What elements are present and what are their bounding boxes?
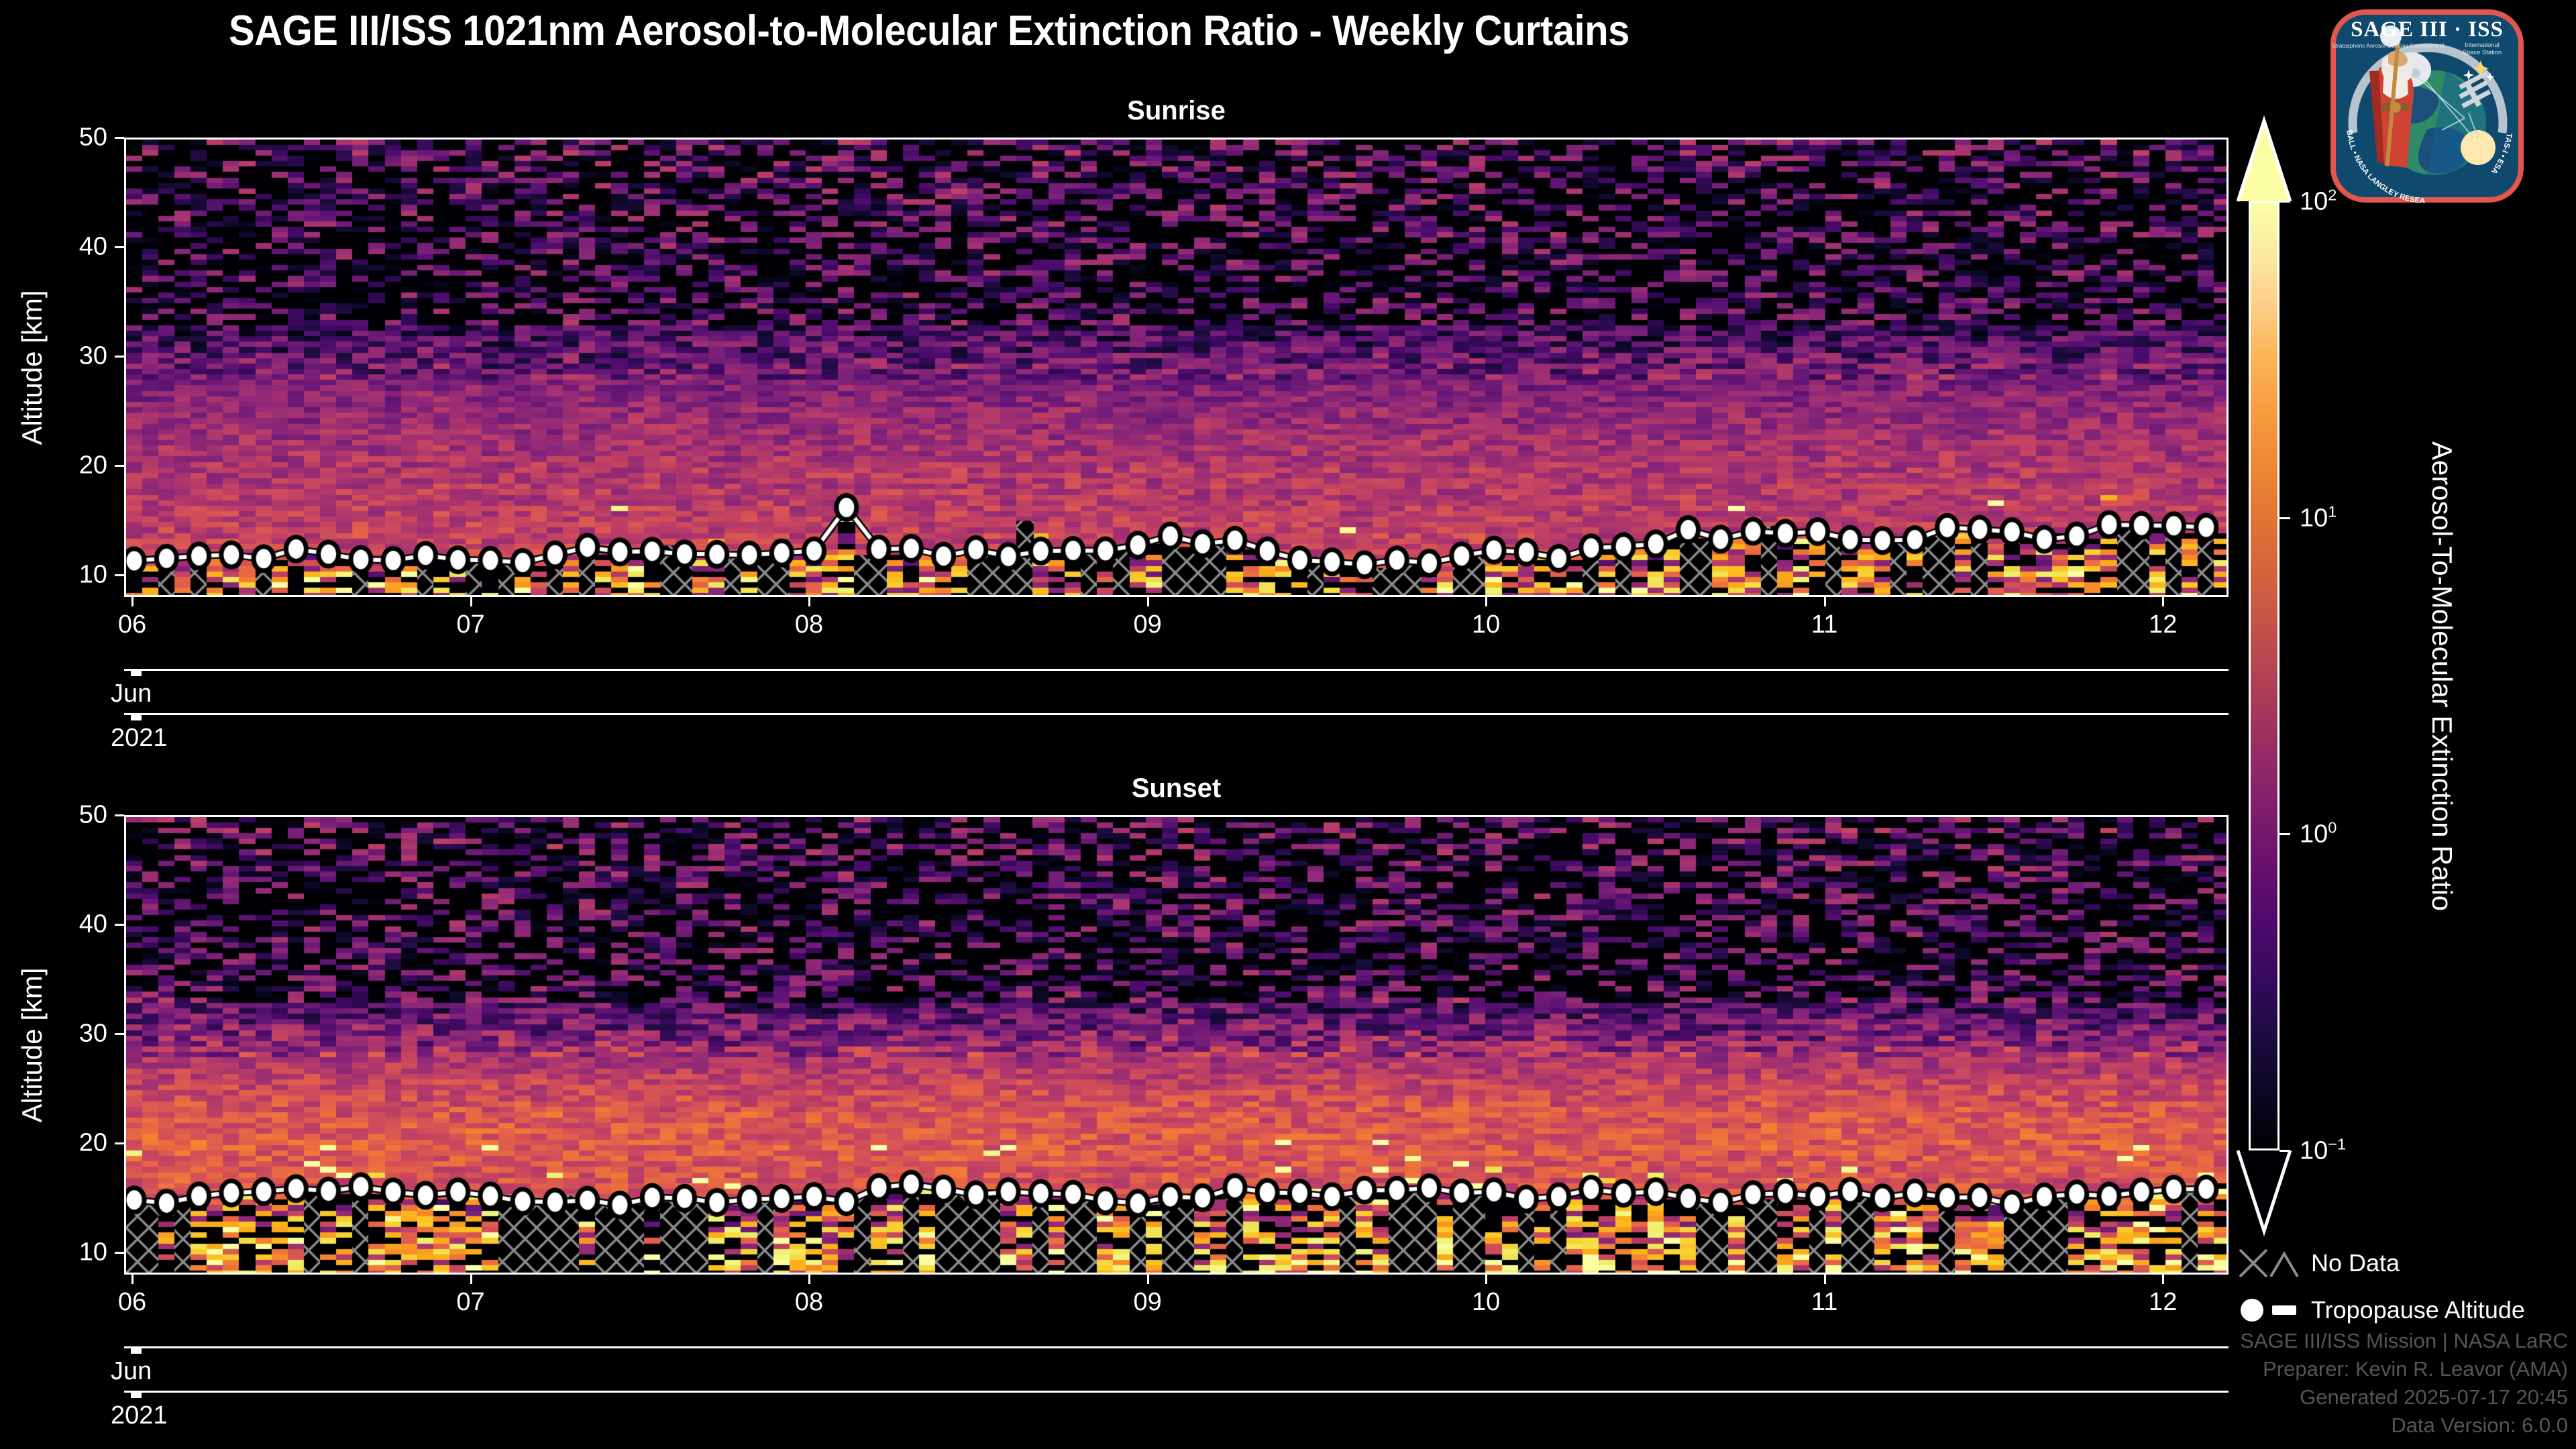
colorbar-extend-max-arrow [2237, 121, 2291, 201]
subplot-title-sunset: Sunset [124, 773, 2229, 804]
y-tick-label: 20 [23, 451, 107, 480]
date-rule-tick-year [131, 713, 142, 720]
date-rule-month [124, 669, 2229, 671]
footer-line: Data Version: 6.0.0 [2240, 1411, 2568, 1440]
x-tick-label: 12 [2149, 610, 2177, 639]
colorbar-tick-label: 10−1 [2300, 1136, 2346, 1166]
x-tick-mark [1147, 1275, 1149, 1284]
footer-line: SAGE III/ISS Mission | NASA LaRC [2240, 1327, 2568, 1355]
colorbar-tick-label: 102 [2300, 186, 2337, 217]
x-tick-mark [470, 597, 472, 606]
tropopause-marker-icon [2237, 1291, 2302, 1329]
x-tick-label: 08 [795, 1288, 823, 1317]
plot-area-sunset[interactable] [124, 815, 2229, 1275]
x-tick-label: 06 [118, 1288, 146, 1317]
x-tick-label: 07 [456, 1288, 484, 1317]
colorbar-extend-min-arrow [2237, 1150, 2291, 1231]
y-axis-label-sunset: Altitude [km] [16, 967, 48, 1122]
y-tick-label: 40 [23, 233, 107, 262]
y-tick-mark [115, 465, 124, 467]
date-label-year: 2021 [111, 724, 168, 753]
x-tick-mark [470, 1275, 472, 1284]
footer-line: Generated 2025-07-17 20:45 [2240, 1383, 2568, 1411]
y-tick-label: 10 [23, 1238, 107, 1267]
date-label-month: Jun [111, 680, 152, 708]
colorbar-tick-mark [2279, 833, 2290, 835]
x-tick-mark [131, 597, 133, 606]
x-tick-mark [1485, 597, 1487, 606]
x-tick-mark [2162, 1275, 2164, 1284]
colorbar-tick-mark [2279, 517, 2290, 519]
y-tick-mark [115, 924, 124, 926]
y-tick-mark [115, 574, 124, 576]
y-tick-label: 50 [23, 801, 107, 830]
x-tick-label: 07 [456, 610, 484, 639]
x-tick-label: 11 [1811, 610, 1837, 639]
colorbar-tick-mark [2279, 1150, 2290, 1152]
y-axis-label-sunrise: Altitude [km] [16, 290, 48, 445]
x-tick-mark [1824, 1275, 1826, 1284]
mission-patch-svg: SAGE III · ISS Stratospheric Aerosol and… [2326, 5, 2528, 207]
logo-subtitle-right-2: Space Station [2463, 48, 2502, 56]
date-rule-tick-month [131, 1346, 142, 1354]
x-tick-mark [808, 597, 810, 606]
date-rule-year [124, 713, 2229, 715]
y-tick-mark [115, 137, 124, 139]
x-tick-mark [1485, 1275, 1487, 1284]
date-rule-month [124, 1346, 2229, 1348]
y-tick-label: 50 [23, 123, 107, 152]
y-tick-label: 40 [23, 910, 107, 939]
x-tick-mark [131, 1275, 133, 1284]
y-tick-mark [115, 814, 124, 816]
hatch-swatch-icon [2237, 1244, 2302, 1282]
heatmap-sunrise [126, 140, 2229, 597]
x-tick-label: 10 [1472, 1288, 1500, 1317]
x-tick-label: 11 [1811, 1288, 1837, 1317]
date-rule-year [124, 1391, 2229, 1393]
figure-canvas: SAGE III/ISS 1021nm Aerosol-to-Molecular… [0, 0, 2576, 1449]
y-tick-label: 10 [23, 561, 107, 590]
subplot-title-sunrise: Sunrise [124, 96, 2229, 126]
date-rule-tick-year [131, 1391, 142, 1398]
colorbar-tick-mark [2279, 201, 2290, 203]
plot-area-sunrise[interactable] [124, 138, 2229, 597]
y-tick-mark [115, 356, 124, 358]
x-tick-label: 10 [1472, 610, 1500, 639]
footer-line: Preparer: Kevin R. Leavor (AMA) [2240, 1355, 2568, 1383]
x-tick-mark [2162, 597, 2164, 606]
y-tick-mark [115, 1252, 124, 1254]
date-rule-tick-month [131, 669, 142, 676]
date-label-month: Jun [111, 1357, 152, 1386]
colorbar-gradient [2249, 201, 2279, 1150]
logo-subtitle-left: Stratospheric Aerosol and Gas Experiment… [2332, 42, 2445, 49]
x-tick-mark [1824, 597, 1826, 606]
colorbar-tick-label: 100 [2300, 819, 2337, 849]
colorbar-axis-label: Aerosol-To-Molecular Extinction Ratio [2426, 441, 2458, 910]
y-tick-mark [115, 246, 124, 248]
y-tick-mark [115, 1142, 124, 1144]
colorbar-tick-label: 101 [2300, 502, 2337, 533]
x-tick-label: 08 [795, 610, 823, 639]
x-tick-mark [808, 1275, 810, 1284]
x-tick-label: 09 [1133, 1288, 1161, 1317]
legend-label: Tropopause Altitude [2311, 1296, 2525, 1324]
logo-title: SAGE III · ISS [2351, 17, 2504, 42]
y-tick-label: 20 [23, 1129, 107, 1158]
footer-credits: SAGE III/ISS Mission | NASA LaRCPreparer… [2240, 1327, 2568, 1440]
date-label-year: 2021 [111, 1401, 168, 1430]
heatmap-sunset [126, 817, 2229, 1275]
x-tick-label: 12 [2149, 1288, 2177, 1317]
legend-label: No Data [2311, 1249, 2400, 1277]
logo-subtitle-right-1: International [2465, 41, 2500, 48]
page-title: SAGE III/ISS 1021nm Aerosol-to-Molecular… [74, 7, 1784, 55]
x-tick-label: 09 [1133, 610, 1161, 639]
x-tick-label: 06 [118, 610, 146, 639]
sage-iii-iss-logo: SAGE III · ISS Stratospheric Aerosol and… [2326, 5, 2528, 207]
y-tick-mark [115, 1033, 124, 1035]
x-tick-mark [1147, 597, 1149, 606]
